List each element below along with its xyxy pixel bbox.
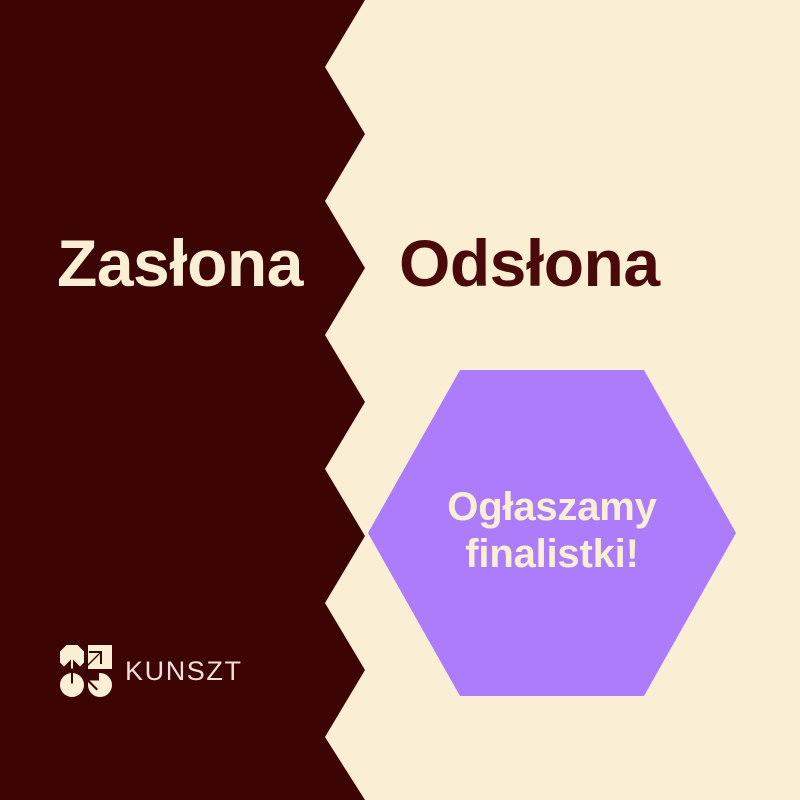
kunszt-grid-mark-icon (60, 645, 112, 697)
mark-tile-top-left (60, 645, 84, 669)
hexagon-badge-line1: Ogłaszamy (447, 485, 656, 529)
headline-odslona: Odsłona (399, 230, 660, 296)
hexagon-badge-line2: finalistki! (447, 531, 656, 578)
logo-lockup: KUNSZT (60, 645, 243, 697)
poster-canvas: Zasłona Odsłona Ogłaszamy finalistki! KU… (0, 0, 800, 800)
mark-tile-top-right (88, 645, 112, 669)
logo-wordmark: KUNSZT (125, 658, 243, 685)
headline-zaslona: Zasłona (57, 230, 303, 296)
hexagon-badge-text: Ogłaszamy finalistki! (447, 484, 656, 582)
mark-tile-bottom-left (60, 673, 84, 697)
mark-tile-bottom-right (88, 673, 112, 697)
